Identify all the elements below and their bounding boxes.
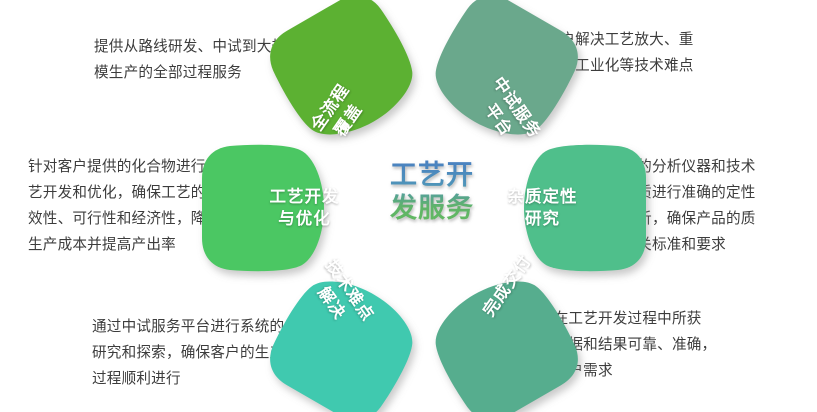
center-title: 工艺开 发服务 — [372, 159, 492, 225]
diagram-canvas: 提供从路线研发、中试到大规 模生产的全部过程服务 帮助客户解决工艺放大、重 现性… — [0, 0, 817, 412]
petal-shape-impurity-qualitative-research[interactable] — [202, 145, 324, 271]
petal-shape-process-development-optimization[interactable] — [524, 145, 646, 271]
petal-shape-pilot-service-platform[interactable] — [258, 0, 428, 153]
petal-shape-full-process-coverage[interactable] — [419, 0, 589, 153]
petal-shape-technical-difficulty-solving[interactable] — [419, 263, 589, 412]
petal-flower-graphic: 全流程 覆盖 中试服务 平台 工艺开发 与优化 杂质定性 研究 技术难点 解决 … — [254, 46, 594, 371]
